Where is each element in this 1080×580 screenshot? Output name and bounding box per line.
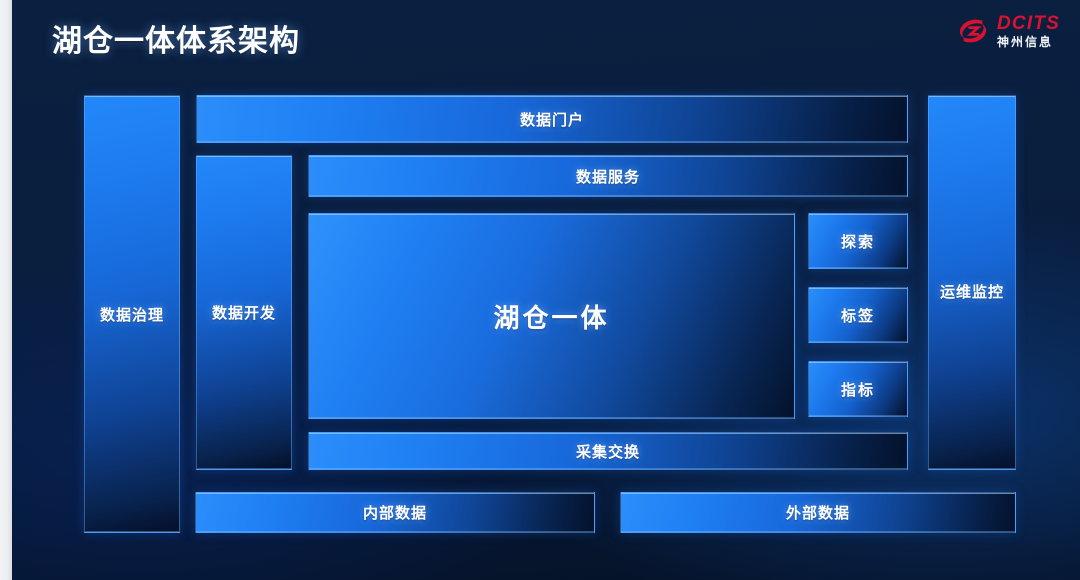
brand-logo: DCITS 神州信息 xyxy=(956,14,1060,48)
block-metrics[interactable]: 指标 xyxy=(808,361,908,417)
page-title: 湖仓一体体系架构 xyxy=(52,16,300,60)
block-tags[interactable]: 标签 xyxy=(808,287,908,343)
block-metrics-label: 指标 xyxy=(841,379,875,400)
dcits-swirl-logo-icon xyxy=(956,14,990,48)
left-edge-strip xyxy=(0,0,12,580)
brand-subtitle: 神州信息 xyxy=(997,36,1060,48)
block-explore[interactable]: 探索 xyxy=(808,213,908,269)
block-data-governance-label: 数据治理 xyxy=(100,304,164,325)
block-external-data-label: 外部数据 xyxy=(786,502,850,523)
block-external-data[interactable]: 外部数据 xyxy=(620,492,1016,533)
block-ops-monitoring-label: 运维监控 xyxy=(940,281,1004,302)
block-ops-monitoring[interactable]: 运维监控 xyxy=(928,95,1016,470)
block-internal-data[interactable]: 内部数据 xyxy=(195,492,595,533)
block-data-governance[interactable]: 数据治理 xyxy=(84,95,180,533)
brand-name: DCITS xyxy=(997,14,1060,33)
block-collection-exchange-label: 采集交换 xyxy=(576,441,640,462)
block-data-development-label: 数据开发 xyxy=(212,302,276,323)
block-lakehouse-core-label: 湖仓一体 xyxy=(493,298,609,335)
block-data-service[interactable]: 数据服务 xyxy=(308,155,908,197)
block-data-service-label: 数据服务 xyxy=(576,166,640,187)
block-lakehouse-core[interactable]: 湖仓一体 xyxy=(308,213,795,419)
block-internal-data-label: 内部数据 xyxy=(363,502,427,523)
block-collection-exchange[interactable]: 采集交换 xyxy=(308,432,908,470)
block-data-development[interactable]: 数据开发 xyxy=(196,155,292,470)
slide-canvas: 湖仓一体体系架构 DCITS 神州信息 数据治理 数据开发 数据门户 数据服务 … xyxy=(0,0,1080,580)
block-data-portal-label: 数据门户 xyxy=(520,109,584,130)
block-tags-label: 标签 xyxy=(841,305,875,326)
block-data-portal[interactable]: 数据门户 xyxy=(196,95,908,143)
block-explore-label: 探索 xyxy=(841,231,875,252)
